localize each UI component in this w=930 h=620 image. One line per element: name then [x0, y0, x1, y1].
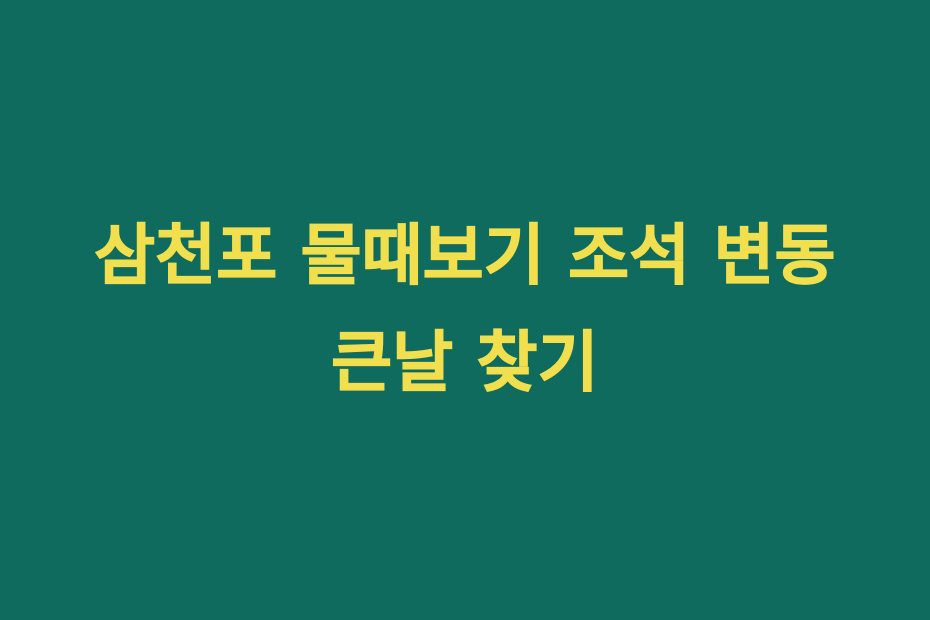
title-block: 삼천포 물때보기 조석 변동 큰날 찾기 — [60, 203, 870, 417]
thumbnail-canvas: 삼천포 물때보기 조석 변동 큰날 찾기 — [0, 0, 930, 620]
page-title: 삼천포 물때보기 조석 변동 큰날 찾기 — [70, 203, 860, 417]
